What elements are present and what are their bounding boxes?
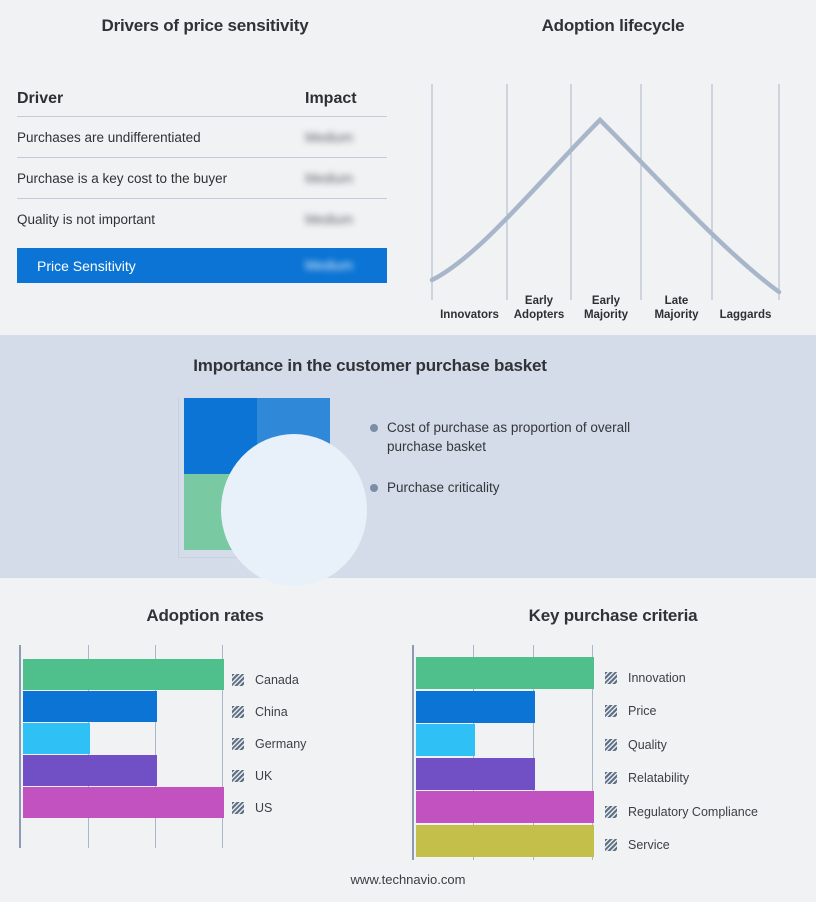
legend-item: Germany xyxy=(232,728,306,760)
column-header-driver: Driver xyxy=(17,90,305,108)
legend-item: Innovation xyxy=(605,661,758,695)
legend-label: Canada xyxy=(255,673,299,687)
bar-regulatory-compliance xyxy=(416,791,594,823)
purchase-criteria-legend: InnovationPriceQualityRelatabilityRegula… xyxy=(605,661,758,862)
lifecycle-segment-early-majority: Early Majority xyxy=(571,294,641,322)
lifecycle-segment-innovators: Innovators xyxy=(432,308,507,322)
legend-item: Quality xyxy=(605,728,758,762)
infographic-page: Drivers of price sensitivity Driver Impa… xyxy=(0,0,816,902)
adoption-rates-panel-title: Adoption rates xyxy=(0,606,410,626)
lifecycle-segment-early-adopters: Early Adopters xyxy=(507,294,571,322)
legend-item: UK xyxy=(232,760,306,792)
drivers-table-header: Driver Impact xyxy=(17,90,387,117)
key-purchase-criteria-chart: InnovationPriceQualityRelatabilityRegula… xyxy=(412,645,812,860)
matrix-position-marker xyxy=(221,434,367,586)
lifecycle-label-line2: Innovators xyxy=(440,309,499,321)
legend-label: US xyxy=(255,801,272,815)
lifecycle-curve-svg xyxy=(410,60,816,305)
lifecycle-segment-laggards: Laggards xyxy=(712,308,779,322)
adoption-lifecycle-chart: Innovators Early Adopters Early Majority… xyxy=(410,60,816,320)
column-header-impact: Impact xyxy=(305,90,387,108)
table-row: Quality is not important Medium xyxy=(17,199,387,240)
hatched-square-icon xyxy=(605,839,617,851)
hatched-square-icon xyxy=(605,705,617,717)
hatched-square-icon xyxy=(605,739,617,751)
legend-label: China xyxy=(255,705,288,719)
lifecycle-label-line1: Late xyxy=(665,295,689,307)
lifecycle-label-line2: Adopters xyxy=(514,309,564,321)
hatched-square-icon xyxy=(605,672,617,684)
drivers-table: Driver Impact Purchases are undifferenti… xyxy=(17,90,387,283)
hatched-square-icon xyxy=(232,674,244,686)
lifecycle-label-line2: Majority xyxy=(584,309,628,321)
legend-bullet-icon xyxy=(370,424,378,432)
driver-label: Purchases are undifferentiated xyxy=(17,130,305,145)
hatched-square-icon xyxy=(232,770,244,782)
lifecycle-label-line1: Early xyxy=(525,295,553,307)
legend-label: UK xyxy=(255,769,272,783)
drivers-panel-title: Drivers of price sensitivity xyxy=(0,16,410,36)
bar-germany xyxy=(23,723,90,754)
legend-item: Purchase criticality xyxy=(370,478,660,497)
lifecycle-segment-late-majority: Late Majority xyxy=(641,294,712,322)
legend-label: Germany xyxy=(255,737,306,751)
lifecycle-axis-labels: Innovators Early Adopters Early Majority… xyxy=(410,282,816,322)
bar-price xyxy=(416,691,535,723)
legend-item: US xyxy=(232,792,306,824)
legend-label: Cost of purchase as proportion of overal… xyxy=(387,418,637,456)
highlight-impact-value: Medium xyxy=(305,258,387,273)
lifecycle-panel-title: Adoption lifecycle xyxy=(410,16,816,36)
bar-uk xyxy=(23,755,157,786)
legend-label: Quality xyxy=(628,738,667,752)
legend-bullet-icon xyxy=(370,484,378,492)
driver-label: Quality is not important xyxy=(17,212,305,227)
lifecycle-label-line1: Early xyxy=(592,295,620,307)
purchase-criteria-panel-title: Key purchase criteria xyxy=(410,606,816,626)
legend-label: Purchase criticality xyxy=(387,478,500,497)
hatched-square-icon xyxy=(232,706,244,718)
legend-label: Relatability xyxy=(628,771,689,785)
bar-canada xyxy=(23,659,224,690)
legend-label: Price xyxy=(628,704,656,718)
table-row: Purchases are undifferentiated Medium xyxy=(17,117,387,158)
highlight-driver-label: Price Sensitivity xyxy=(37,258,305,274)
legend-item: Service xyxy=(605,829,758,863)
adoption-rates-legend: CanadaChinaGermanyUKUS xyxy=(232,664,306,824)
legend-item: Regulatory Compliance xyxy=(605,795,758,829)
table-row: Purchase is a key cost to the buyer Medi… xyxy=(17,158,387,199)
bar-us xyxy=(23,787,224,818)
bar-quality xyxy=(416,724,475,756)
bar-relatability xyxy=(416,758,535,790)
legend-item: Relatability xyxy=(605,762,758,796)
legend-label: Regulatory Compliance xyxy=(628,805,758,819)
bar-china xyxy=(23,691,157,722)
footer-url: www.technavio.com xyxy=(0,872,816,887)
legend-label: Service xyxy=(628,838,670,852)
hatched-square-icon xyxy=(232,738,244,750)
legend-item: Cost of purchase as proportion of overal… xyxy=(370,418,660,456)
legend-label: Innovation xyxy=(628,671,686,685)
hatched-square-icon xyxy=(232,802,244,814)
adoption-rates-plot xyxy=(19,645,222,848)
adoption-curve xyxy=(432,120,779,292)
bar-innovation xyxy=(416,657,594,689)
lifecycle-label-line2: Majority xyxy=(654,309,698,321)
adoption-rates-chart: CanadaChinaGermanyUKUS xyxy=(19,645,409,860)
importance-legend: Cost of purchase as proportion of overal… xyxy=(370,418,660,517)
impact-value: Medium xyxy=(305,212,387,227)
legend-item: Canada xyxy=(232,664,306,696)
impact-value: Medium xyxy=(305,130,387,145)
impact-value: Medium xyxy=(305,171,387,186)
importance-panel-title: Importance in the customer purchase bask… xyxy=(0,356,740,376)
importance-matrix xyxy=(178,398,338,560)
bar-service xyxy=(416,825,594,857)
hatched-square-icon xyxy=(605,772,617,784)
legend-item: China xyxy=(232,696,306,728)
driver-label: Purchase is a key cost to the buyer xyxy=(17,171,305,186)
price-sensitivity-highlight-row: Price Sensitivity Medium xyxy=(17,248,387,283)
purchase-criteria-plot xyxy=(412,645,592,860)
hatched-square-icon xyxy=(605,806,617,818)
lifecycle-label-line2: Laggards xyxy=(720,309,772,321)
legend-item: Price xyxy=(605,695,758,729)
matrix-quadrants xyxy=(184,398,330,550)
